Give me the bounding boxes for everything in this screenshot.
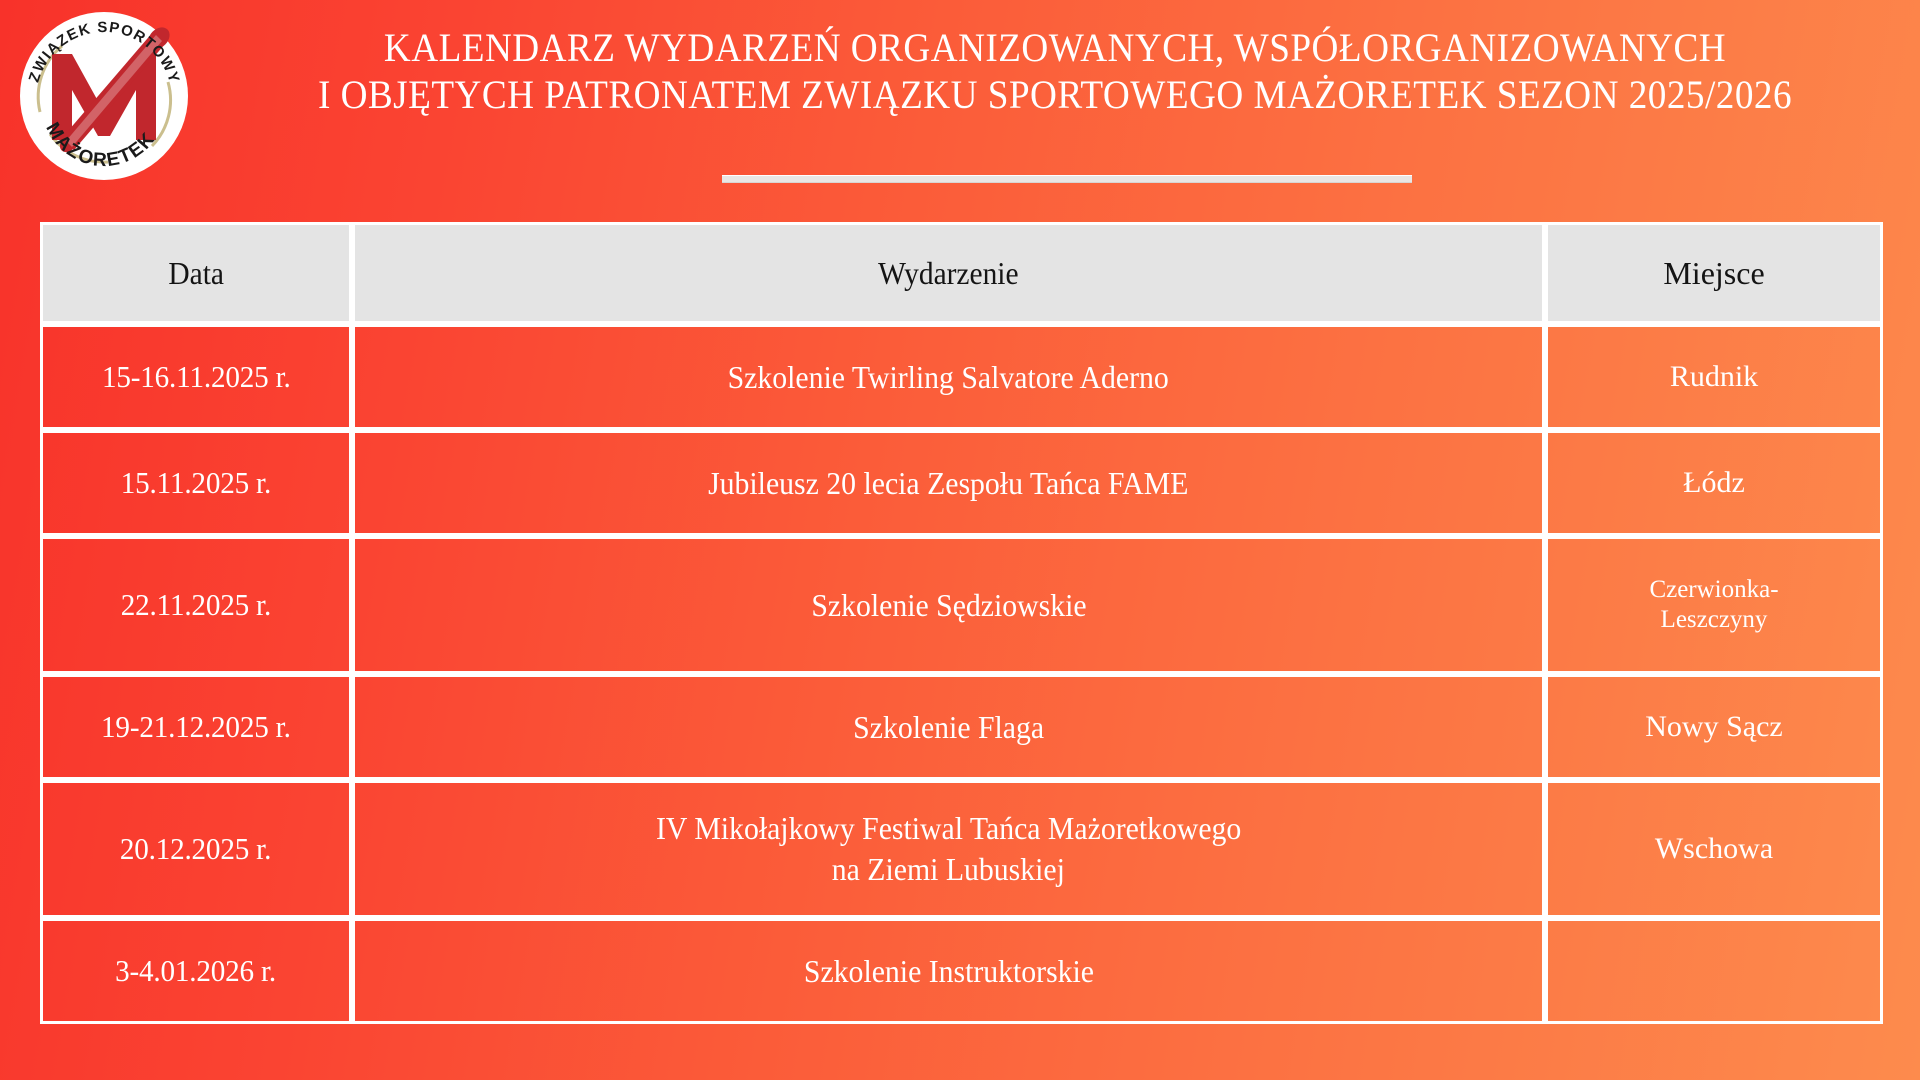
cell-place: Rudnik [1545, 324, 1883, 430]
cell-date-text: 19-21.12.2025 r. [101, 709, 291, 745]
cell-place-line: Łódz [1683, 465, 1745, 502]
column-header-miejsce: Miejsce [1545, 222, 1883, 324]
table-row: 22.11.2025 r.Szkolenie SędziowskieCzerwi… [40, 536, 1883, 674]
cell-date-text: 15.11.2025 r. [121, 465, 271, 501]
cell-event: Szkolenie Sędziowskie [352, 536, 1545, 674]
cell-event: Szkolenie Flaga [352, 674, 1545, 780]
cell-date-text: 15-16.11.2025 r. [102, 359, 291, 395]
table-body: 15-16.11.2025 r.Szkolenie Twirling Salva… [40, 324, 1883, 1024]
table-header-row: Data Wydarzenie Miejsce [40, 222, 1883, 324]
table-row: 20.12.2025 r.IV Mikołajkowy Festiwal Tań… [40, 780, 1883, 918]
cell-event-line: Szkolenie Twirling Salvatore Aderno [728, 357, 1169, 398]
title-line-1: KALENDARZ WYDARZEŃ ORGANIZOWANYCH, WSPÓŁ… [251, 26, 1860, 71]
cell-event-line: na Ziemi Lubuskiej [832, 849, 1065, 890]
cell-date: 15-16.11.2025 r. [40, 324, 352, 430]
cell-place: Wschowa [1545, 780, 1883, 918]
cell-place-line: Leszczyny [1661, 605, 1768, 636]
table-row: 19-21.12.2025 r.Szkolenie FlagaNowy Sącz [40, 674, 1883, 780]
table-row: 15.11.2025 r.Jubileusz 20 lecia Zespołu … [40, 430, 1883, 536]
cell-place: Nowy Sącz [1545, 674, 1883, 780]
cell-event-line: Szkolenie Sędziowskie [811, 585, 1086, 626]
zwiazek-sportowy-mazoretek-logo: ZWIĄZEK SPORTOWY MAŻORETEK [16, 8, 192, 184]
cell-place: Czerwionka-Leszczyny [1545, 536, 1883, 674]
page-header: ZWIĄZEK SPORTOWY MAŻORETEK KALENDARZ WYD… [0, 0, 1920, 210]
cell-event: IV Mikołajkowy Festiwal Tańca Mażoretkow… [352, 780, 1545, 918]
cell-date: 20.12.2025 r. [40, 780, 352, 918]
cell-place-line: Rudnik [1670, 359, 1758, 396]
cell-event-line: Szkolenie Flaga [853, 707, 1044, 748]
events-calendar-table: Data Wydarzenie Miejsce 15-16.11.2025 r.… [40, 222, 1883, 1024]
cell-date: 19-21.12.2025 r. [40, 674, 352, 780]
cell-date-text: 20.12.2025 r. [120, 831, 271, 867]
cell-date: 15.11.2025 r. [40, 430, 352, 536]
cell-place: Łódz [1545, 430, 1883, 536]
table-row: 15-16.11.2025 r.Szkolenie Twirling Salva… [40, 324, 1883, 430]
page-title: KALENDARZ WYDARZEŃ ORGANIZOWANYCH, WSPÓŁ… [190, 26, 1920, 118]
column-header-data: Data [40, 222, 352, 324]
title-divider [722, 175, 1412, 183]
cell-place-line: Wschowa [1655, 831, 1773, 868]
cell-place-line: Czerwionka- [1649, 575, 1778, 606]
column-header-wydarzenie: Wydarzenie [352, 222, 1545, 324]
cell-event-line: Jubileusz 20 lecia Zespołu Tańca FAME [708, 463, 1188, 504]
cell-event: Szkolenie Twirling Salvatore Aderno [352, 324, 1545, 430]
cell-event: Szkolenie Instruktorskie [352, 918, 1545, 1024]
table-row: 3-4.01.2026 r.Szkolenie Instruktorskie [40, 918, 1883, 1024]
cell-date: 3-4.01.2026 r. [40, 918, 352, 1024]
title-line-2: I OBJĘTYCH PATRONATEM ZWIĄZKU SPORTOWEGO… [251, 73, 1860, 118]
cell-event: Jubileusz 20 lecia Zespołu Tańca FAME [352, 430, 1545, 536]
cell-event-line: Szkolenie Instruktorskie [803, 951, 1093, 992]
cell-date: 22.11.2025 r. [40, 536, 352, 674]
cell-event-line: IV Mikołajkowy Festiwal Tańca Mażoretkow… [656, 808, 1241, 849]
cell-date-text: 3-4.01.2026 r. [116, 953, 277, 989]
table-header: Data Wydarzenie Miejsce [40, 222, 1883, 324]
cell-place-line: Nowy Sącz [1645, 709, 1782, 746]
cell-place [1545, 918, 1883, 1024]
cell-date-text: 22.11.2025 r. [121, 587, 271, 623]
